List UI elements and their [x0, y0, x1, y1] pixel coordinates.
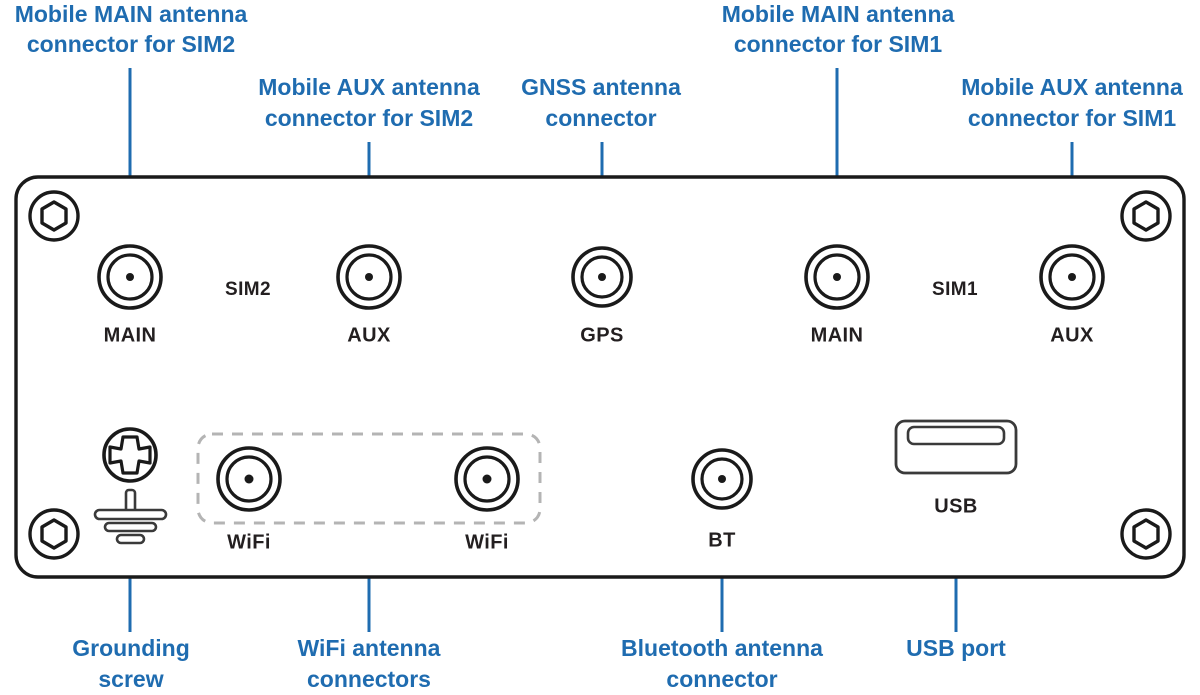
callout-mobile-main-sim2: Mobile MAIN antenna connector for SIM2	[15, 1, 248, 57]
callout-line-2: screw	[98, 666, 163, 692]
group-label-sim2: SIM2	[225, 279, 271, 300]
diagram-canvas: MAIN AUX GPS MAIN AUX SIM2 SIM1 WiFi WiF…	[0, 0, 1200, 695]
callout-line-1: Bluetooth antenna	[621, 635, 823, 661]
group-label-sim1: SIM1	[932, 279, 978, 300]
connector-wifi-right[interactable]	[456, 448, 518, 510]
callout-line-1: Mobile AUX antenna	[961, 74, 1183, 100]
router-panel-diagram: MAIN AUX GPS MAIN AUX SIM2 SIM1 WiFi WiF…	[0, 0, 1200, 695]
connector-sim1-aux[interactable]	[1041, 246, 1103, 308]
callout-bluetooth-antenna-connector: Bluetooth antenna connector	[621, 635, 823, 692]
port-label-sim1-main: MAIN	[811, 324, 864, 346]
connector-sim2-aux[interactable]	[338, 246, 400, 308]
device-body-outline	[16, 177, 1184, 577]
corner-screw-bottom-left	[30, 510, 78, 558]
corner-screw-bottom-right	[1122, 510, 1170, 558]
callout-mobile-aux-sim2: Mobile AUX antenna connector for SIM2	[258, 74, 480, 131]
port-label-sim2-aux: AUX	[347, 324, 391, 346]
callout-line-1: WiFi antenna	[298, 635, 441, 661]
callout-line-2: connector for SIM2	[265, 105, 473, 131]
port-label-wifi-right: WiFi	[465, 531, 509, 553]
connector-wifi-left[interactable]	[218, 448, 280, 510]
callout-mobile-main-sim1: Mobile MAIN antenna connector for SIM1	[722, 1, 955, 57]
port-label-wifi-left: WiFi	[227, 531, 271, 553]
port-label-usb: USB	[934, 495, 977, 517]
port-label-gps: GPS	[580, 324, 623, 346]
callout-line-1: Grounding	[72, 635, 190, 661]
callout-usb-port: USB port	[906, 635, 1006, 661]
callout-grounding-screw: Grounding screw	[72, 635, 190, 692]
port-label-sim2-main: MAIN	[104, 324, 157, 346]
corner-screw-top-right	[1122, 192, 1170, 240]
callout-line-2: connector for SIM2	[27, 31, 235, 57]
callout-line-2: connector for SIM1	[734, 31, 943, 57]
callout-wifi-antenna-connectors: WiFi antenna connectors	[298, 635, 441, 692]
connector-gps[interactable]	[573, 248, 631, 306]
connector-bt[interactable]	[693, 450, 751, 508]
grounding-screw[interactable]	[104, 429, 156, 481]
corner-screw-top-left	[30, 192, 78, 240]
callout-line-1: Mobile MAIN antenna	[722, 1, 955, 27]
callout-line-2: connector	[545, 105, 656, 131]
port-label-sim1-aux: AUX	[1050, 324, 1094, 346]
callout-line-2: connector	[666, 666, 777, 692]
callout-line-2: connector for SIM1	[968, 105, 1177, 131]
callout-mobile-aux-sim1: Mobile AUX antenna connector for SIM1	[961, 74, 1183, 131]
connector-sim2-main[interactable]	[99, 246, 161, 308]
callout-line-1: Mobile AUX antenna	[258, 74, 480, 100]
port-label-bt: BT	[708, 529, 735, 551]
callout-line-1: USB port	[906, 635, 1006, 661]
callout-line-2: connectors	[307, 666, 431, 692]
usb-port[interactable]	[896, 421, 1016, 473]
connector-sim1-main[interactable]	[806, 246, 868, 308]
callout-line-1: GNSS antenna	[521, 74, 681, 100]
callout-gnss: GNSS antenna connector	[521, 74, 681, 131]
callout-line-1: Mobile MAIN antenna	[15, 1, 248, 27]
